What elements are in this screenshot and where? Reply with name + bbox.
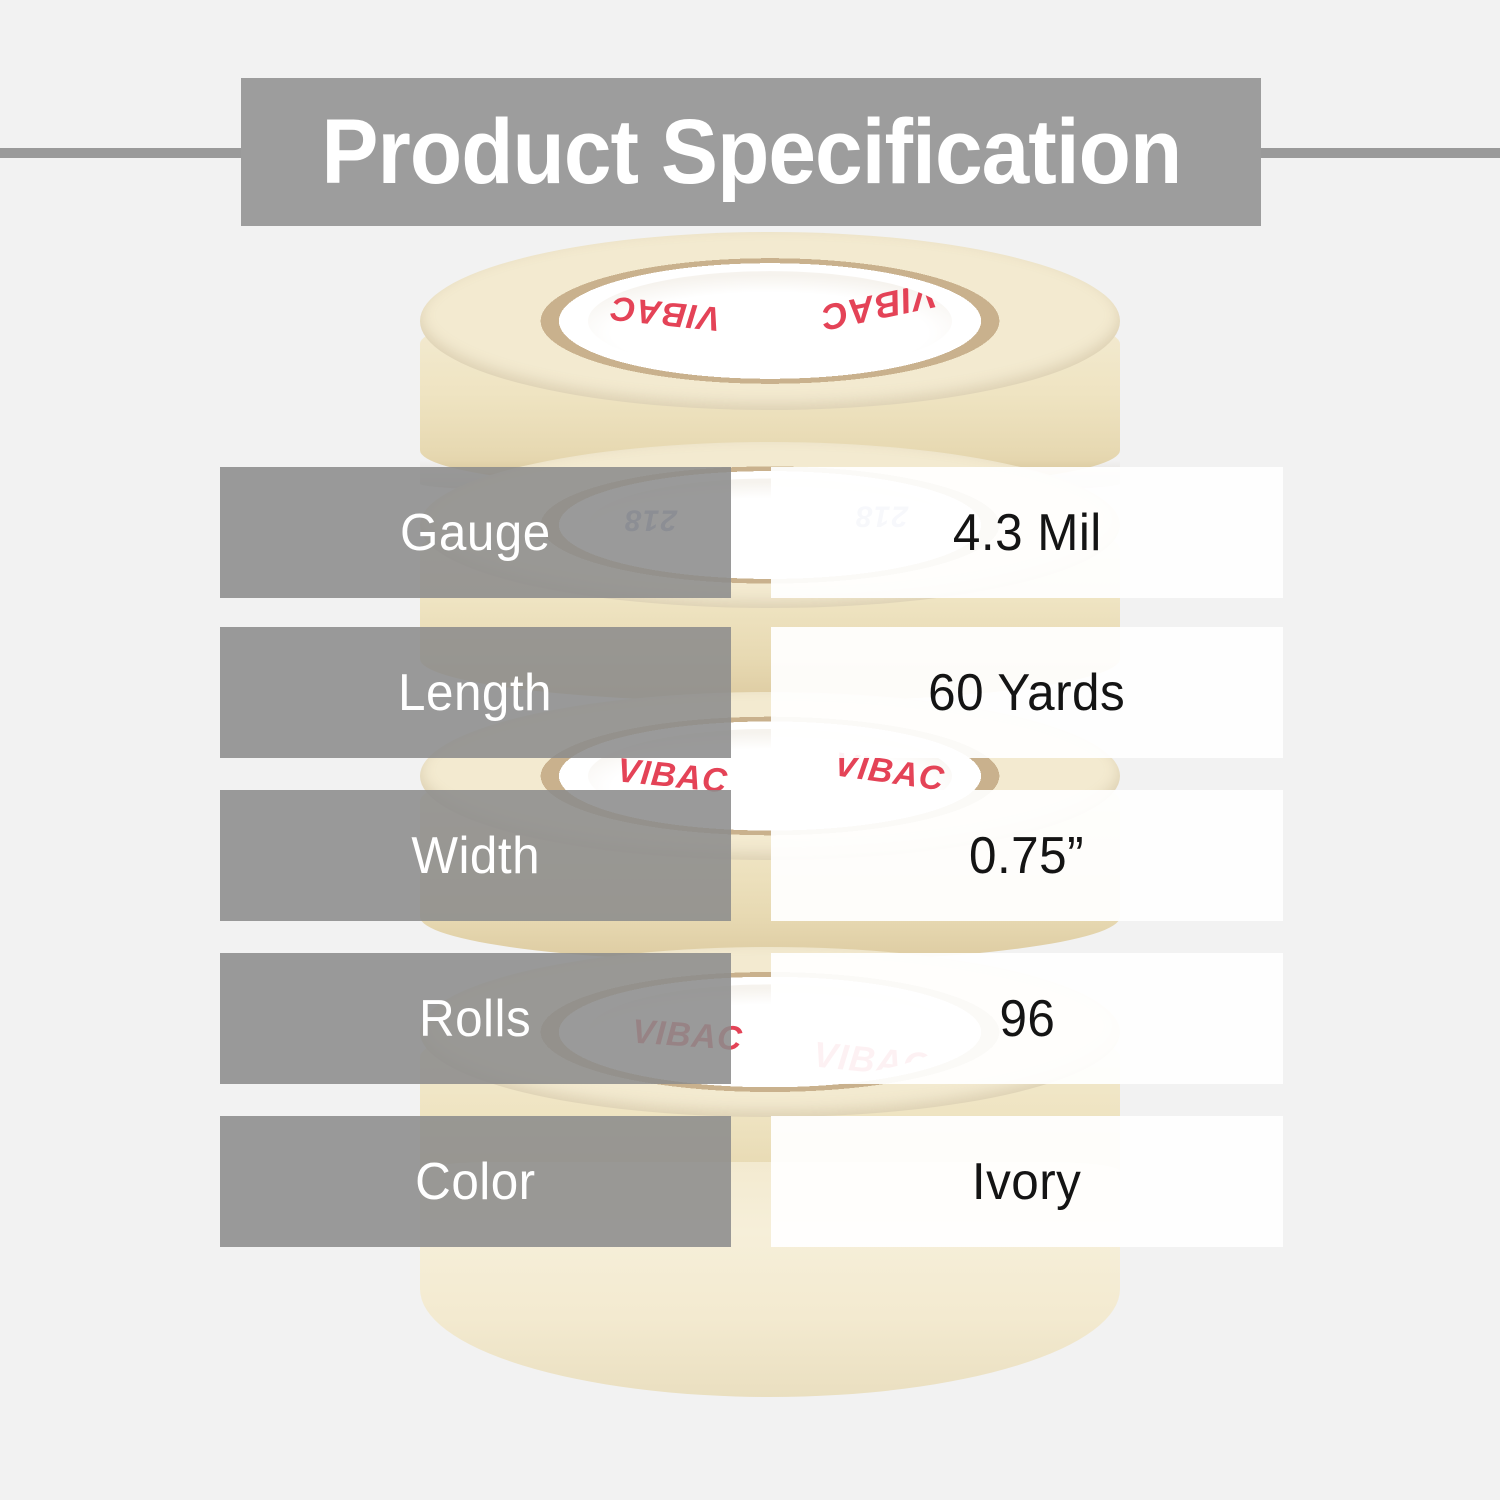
spec-value: 60 Yards [929, 663, 1126, 723]
spec-value: 0.75” [970, 826, 1085, 886]
spec-label-cell: Length [220, 627, 731, 758]
spec-label-cell: Gauge [220, 467, 731, 598]
table-row: Width 0.75” [220, 790, 1283, 921]
spec-table: Gauge 4.3 Mil Length 60 Yards Width 0.75… [0, 0, 1500, 1500]
spec-label: Width [411, 826, 540, 886]
spec-value: 96 [999, 989, 1055, 1049]
spec-value-cell: 60 Yards [771, 627, 1283, 758]
product-specification-page: Product Specification VIBAC VIBAC 218 21… [0, 0, 1500, 1500]
spec-label-cell: Rolls [220, 953, 731, 1084]
table-row: Length 60 Yards [220, 627, 1283, 758]
spec-value: 4.3 Mil [953, 503, 1102, 563]
spec-label-cell: Color [220, 1116, 731, 1247]
spec-value: Ivory [972, 1152, 1081, 1212]
spec-label-cell: Width [220, 790, 731, 921]
spec-value-cell: Ivory [771, 1116, 1283, 1247]
spec-label: Color [415, 1152, 535, 1212]
table-row: Color Ivory [220, 1116, 1283, 1247]
table-row: Rolls 96 [220, 953, 1283, 1084]
spec-value-cell: 4.3 Mil [771, 467, 1283, 598]
spec-label: Length [399, 663, 553, 723]
spec-value-cell: 0.75” [771, 790, 1283, 921]
spec-label: Rolls [419, 989, 531, 1049]
spec-label: Gauge [400, 503, 551, 563]
table-row: Gauge 4.3 Mil [220, 467, 1283, 598]
spec-value-cell: 96 [771, 953, 1283, 1084]
